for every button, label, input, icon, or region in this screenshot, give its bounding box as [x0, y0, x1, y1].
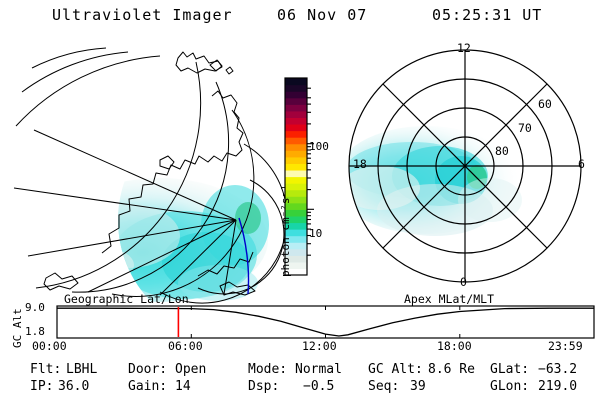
orbit-x-tick-0000: 00:00: [32, 340, 67, 352]
status-flt-value: LBHL: [66, 363, 97, 376]
status-dsp-value: −0.5: [303, 380, 334, 393]
status-flt-label: Flt:: [30, 363, 61, 376]
instrument-title: Ultraviolet Imager: [52, 8, 233, 23]
status-seq-value: 39: [410, 380, 426, 393]
status-ip-value: 36.0: [58, 380, 89, 393]
mlt-dial-panel[interactable]: 12 18 6 0 60 70 80: [340, 40, 596, 296]
orbit-y-tick-min: 1.8: [25, 326, 45, 337]
orbit-y-axis-label: GC Alt: [12, 308, 23, 348]
orbit-x-tick-0600: 06:00: [168, 340, 203, 352]
mlt-label-0: 0: [460, 276, 467, 288]
mlt-dial-svg: [340, 40, 596, 296]
status-dsp-label: Dsp:: [248, 380, 279, 393]
colorbar-tick-label-10: 10: [309, 228, 322, 239]
orbit-altitude-trace: [57, 308, 594, 336]
status-door-label: Door:: [128, 363, 167, 376]
colorbar[interactable]: 100 10 photon cm⁻²s⁻¹: [268, 52, 346, 292]
status-gcalt-value: 8.6 Re: [428, 363, 475, 376]
orbit-chart-ticks: [57, 306, 594, 338]
status-ip-label: IP:: [30, 380, 53, 393]
status-gain-value: 14: [175, 380, 191, 393]
status-glat-value: −63.2: [538, 363, 577, 376]
mlat-ring-label-70: 70: [518, 122, 532, 134]
status-block: Flt: LBHL Door: Open Mode: Normal GC Alt…: [0, 363, 600, 397]
colorbar-tick-label-100: 100: [309, 141, 329, 152]
orbit-altitude-chart[interactable]: GC Alt 9.0 1.8 00:00 06:00 12:00 18:00 2…: [0, 300, 600, 352]
status-glat-label: GLat:: [490, 363, 529, 376]
mlt-spokes: [349, 50, 581, 282]
status-seq-label: Seq:: [368, 380, 399, 393]
geographic-map-svg: [10, 40, 272, 295]
status-gcalt-label: GC Alt:: [368, 363, 423, 376]
mlat-ring-label-80: 80: [495, 145, 509, 157]
status-mode-value: Normal: [295, 363, 342, 376]
orbit-x-tick-1800: 18:00: [437, 340, 472, 352]
status-mode-label: Mode:: [248, 363, 287, 376]
geographic-map-panel[interactable]: [10, 40, 272, 295]
mlt-label-12: 12: [457, 42, 471, 54]
orbit-x-tick-1200: 12:00: [302, 340, 337, 352]
mlat-ring-label-60: 60: [538, 98, 552, 110]
colorbar-axis-label: photon cm⁻²s⁻¹: [280, 184, 291, 277]
orbit-chart-frame: [57, 306, 594, 338]
status-gain-label: Gain:: [128, 380, 167, 393]
orbit-x-tick-2359: 23:59: [548, 340, 583, 352]
observation-time: 05:25:31 UT: [432, 8, 542, 23]
orbit-chart-svg: [0, 300, 600, 352]
orbit-y-tick-max: 9.0: [25, 302, 45, 313]
status-glon-value: 219.0: [538, 380, 577, 393]
mlt-label-18: 18: [353, 158, 367, 170]
status-glon-label: GLon:: [490, 380, 529, 393]
status-door-value: Open: [175, 363, 206, 376]
mlt-label-6: 6: [578, 158, 585, 170]
observation-date: 06 Nov 07: [277, 8, 367, 23]
